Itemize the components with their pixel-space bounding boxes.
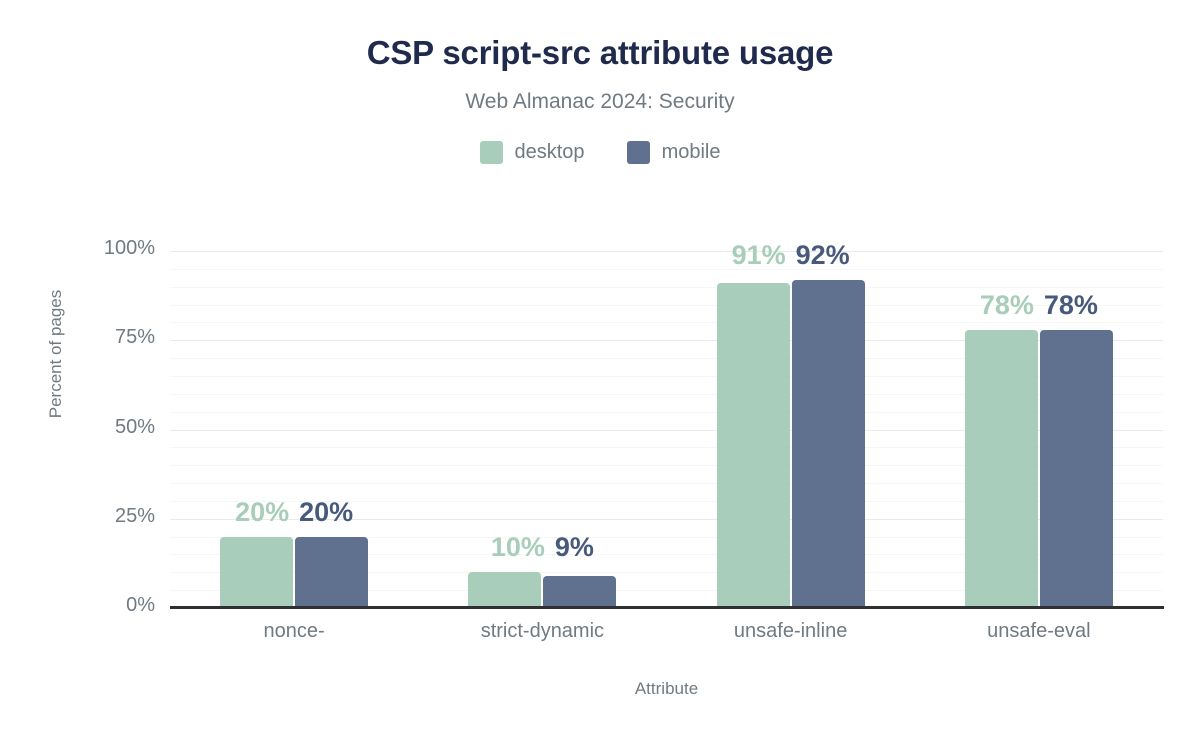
x-axis-title: Attribute bbox=[170, 679, 1163, 699]
chart-title: CSP script-src attribute usage bbox=[0, 34, 1200, 72]
bar-desktop-nonce-[interactable] bbox=[220, 537, 293, 608]
x-tick-label-strict-dynamic: strict-dynamic bbox=[412, 620, 672, 643]
bar-mobile-unsafe-inline[interactable] bbox=[792, 280, 865, 608]
legend-swatch-desktop bbox=[480, 141, 503, 164]
legend-item-desktop[interactable]: desktop bbox=[480, 141, 585, 164]
y-tick-label: 50% bbox=[15, 416, 155, 439]
value-label-desktop-strict-dynamic: 10% bbox=[491, 532, 545, 562]
y-axis-title: Percent of pages bbox=[46, 224, 66, 484]
bar-mobile-unsafe-eval[interactable] bbox=[1040, 330, 1113, 608]
chart-legend: desktop mobile bbox=[0, 141, 1200, 164]
y-tick-label: 100% bbox=[15, 237, 155, 260]
value-label-mobile-unsafe-inline: 92% bbox=[796, 240, 850, 270]
y-tick-label: 0% bbox=[15, 594, 155, 617]
value-label-mobile-strict-dynamic: 9% bbox=[555, 532, 594, 562]
legend-label-mobile: mobile bbox=[662, 141, 721, 164]
bar-desktop-unsafe-eval[interactable] bbox=[965, 330, 1038, 608]
value-label-desktop-unsafe-inline: 91% bbox=[732, 240, 786, 270]
plot-area: 20%20%10%9%91%92%78%78% bbox=[170, 251, 1163, 608]
value-label-desktop-unsafe-eval: 78% bbox=[980, 290, 1034, 320]
value-label-desktop-nonce-: 20% bbox=[235, 497, 289, 527]
bar-desktop-unsafe-inline[interactable] bbox=[717, 283, 790, 608]
value-label-group-nonce-: 20%20% bbox=[184, 497, 404, 528]
x-tick-label-nonce-: nonce- bbox=[164, 620, 424, 643]
value-label-mobile-unsafe-eval: 78% bbox=[1044, 290, 1098, 320]
value-label-group-unsafe-eval: 78%78% bbox=[929, 290, 1149, 321]
x-axis-line bbox=[170, 606, 1164, 609]
legend-swatch-mobile bbox=[627, 141, 650, 164]
chart-subtitle: Web Almanac 2024: Security bbox=[0, 90, 1200, 114]
value-label-group-unsafe-inline: 91%92% bbox=[681, 240, 901, 271]
bar-mobile-strict-dynamic[interactable] bbox=[543, 576, 616, 608]
bar-mobile-nonce-[interactable] bbox=[295, 537, 368, 608]
legend-label-desktop: desktop bbox=[515, 141, 585, 164]
x-tick-label-unsafe-eval: unsafe-eval bbox=[909, 620, 1169, 643]
y-tick-label: 25% bbox=[15, 505, 155, 528]
legend-item-mobile[interactable]: mobile bbox=[627, 141, 721, 164]
bar-desktop-strict-dynamic[interactable] bbox=[468, 572, 541, 608]
y-tick-label: 75% bbox=[15, 326, 155, 349]
x-tick-label-unsafe-inline: unsafe-inline bbox=[661, 620, 921, 643]
chart-canvas: CSP script-src attribute usage Web Alman… bbox=[0, 0, 1200, 742]
value-label-mobile-nonce-: 20% bbox=[299, 497, 353, 527]
value-label-group-strict-dynamic: 10%9% bbox=[432, 532, 652, 563]
